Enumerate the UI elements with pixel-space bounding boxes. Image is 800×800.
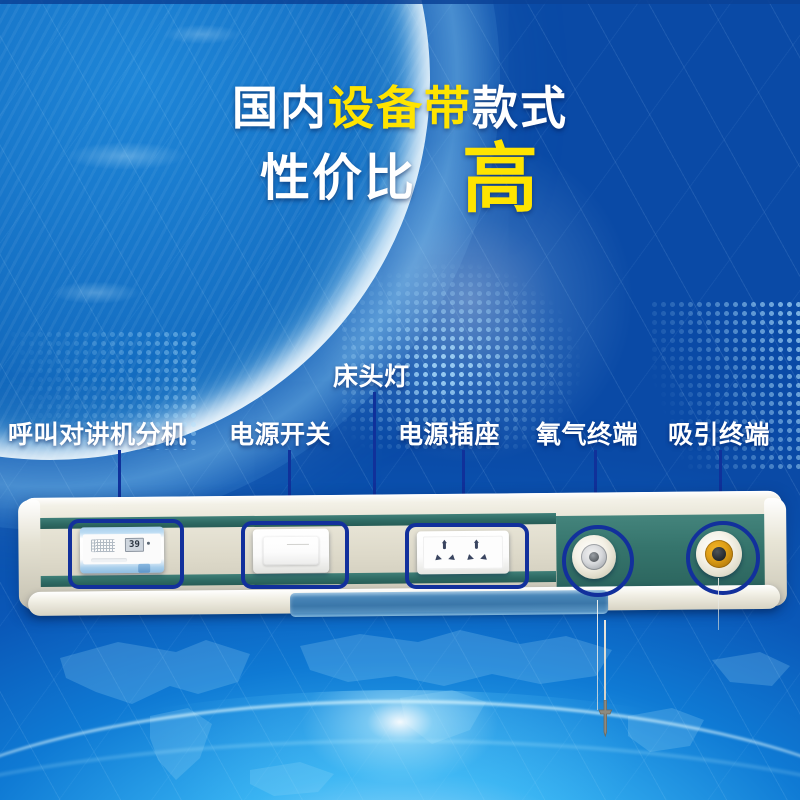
highlight-circle-oxygen [562,525,634,597]
suction-hanging-cord [718,578,719,630]
oxygen-hanging-cord [597,600,598,710]
highlight-box-intercom [68,519,184,589]
highlight-box-power-socket [405,523,529,589]
top-edge-bar [0,0,800,4]
callout-label-intercom: 呼叫对讲机分机 [8,415,187,451]
bedside-lamp-diffuser[interactable] [290,590,608,617]
headline-line-2: 性价比高 [0,142,800,215]
headline-line1-highlight: 设备带 [328,81,472,135]
callout-label-bedside-lamp: 床头灯 [333,357,410,393]
highlight-box-power-switch [241,521,349,589]
headline-block: 国内设备带款式 性价比高 [0,78,800,215]
headline-line2-part1: 性价比 [260,149,416,207]
highlight-circle-suction [686,521,760,595]
pull-cord-handle-icon[interactable] [590,700,620,740]
callout-label-suction-outlet: 吸引终端 [668,415,770,451]
callout-label-power-socket: 电源插座 [398,415,500,451]
callout-label-power-switch: 电源开关 [229,415,331,451]
headline-line2-highlight: 高 [462,134,540,223]
headline-line-1: 国内设备带款式 [0,78,800,138]
product-poster: 国内设备带款式 性价比高 呼叫对讲机分机 电源开关 床头灯 电源插座 氧气终端 … [0,0,800,800]
callout-label-oxygen-outlet: 氧气终端 [536,415,638,451]
headline-line1-part1: 国内 [232,81,328,135]
headline-line1-part2: 款式 [472,81,568,135]
